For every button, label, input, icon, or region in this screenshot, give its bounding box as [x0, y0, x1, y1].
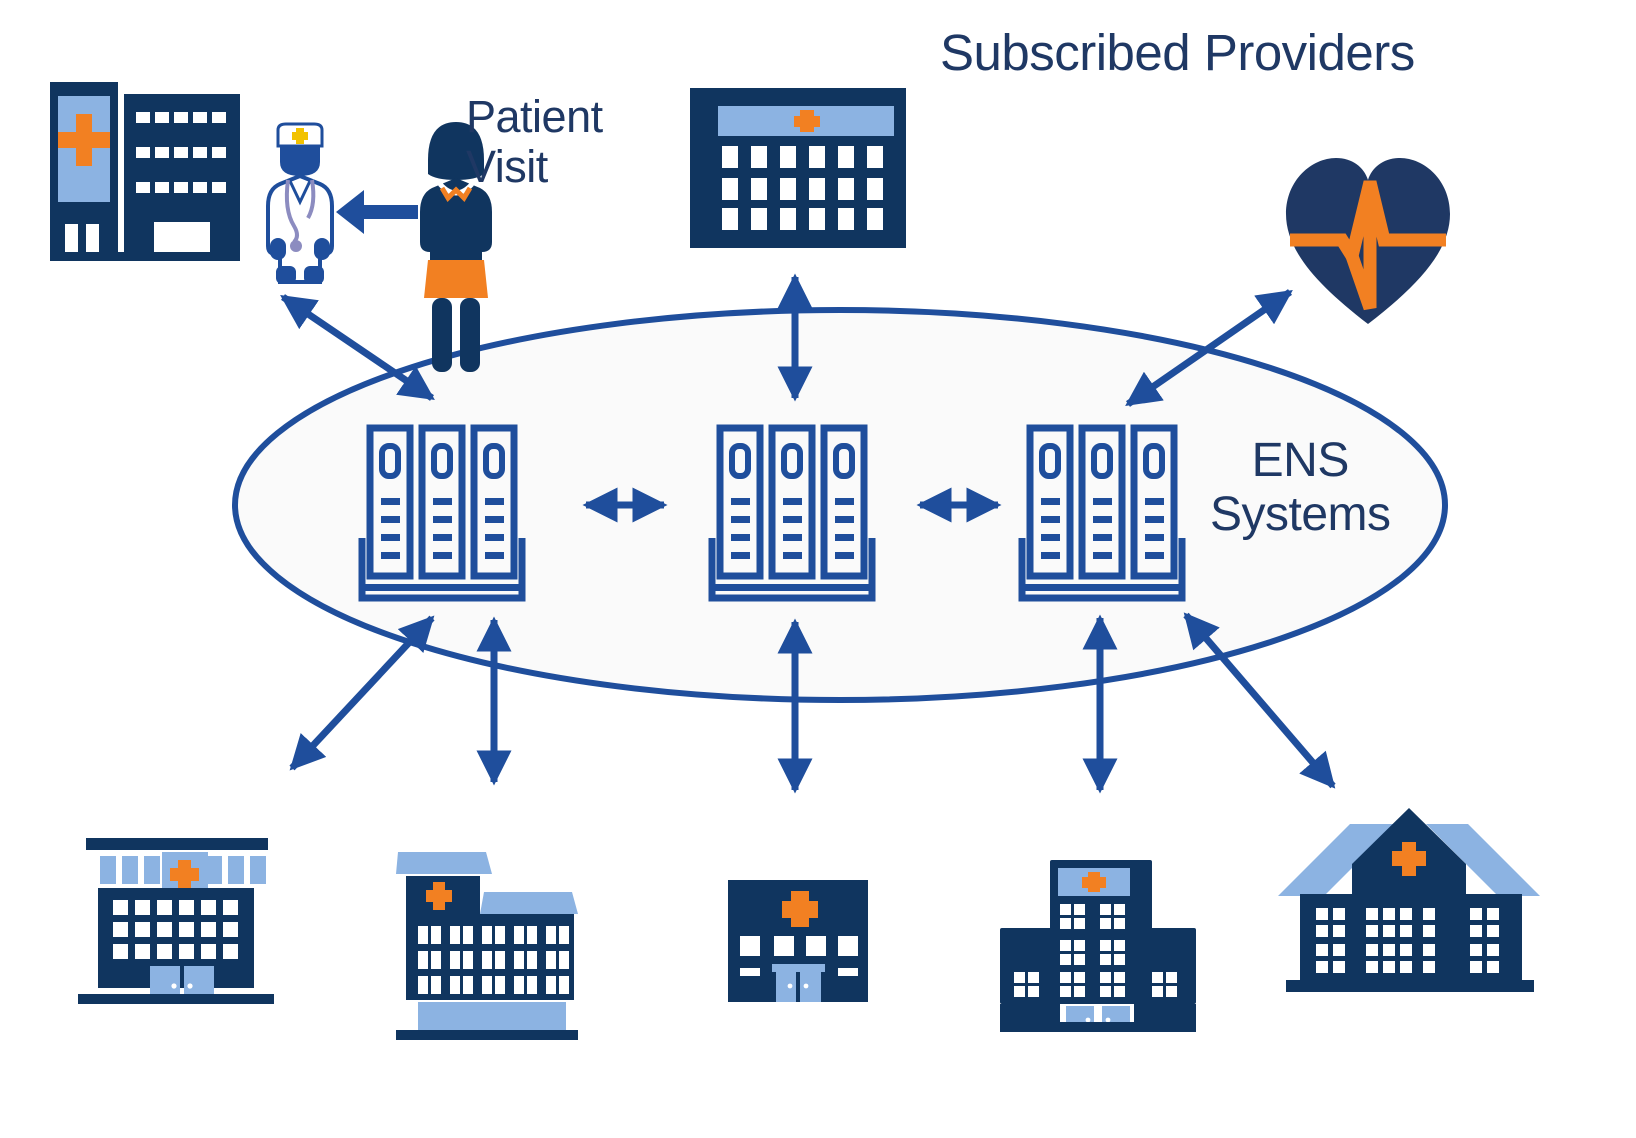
- provider-medical-center: [396, 852, 578, 1040]
- provider-hospital-tower: [1000, 860, 1196, 1032]
- subscribed-providers-label: Subscribed Providers: [940, 24, 1415, 81]
- diagram-canvas: Subscribed Providers PatientVisit ENSSys…: [0, 0, 1636, 1138]
- provider-emergency-clinic: [728, 880, 868, 1002]
- ens-label-line2: Systems: [1210, 488, 1391, 541]
- heartbeat-health-icon: [1286, 158, 1450, 324]
- subscribed-hospital-top-center: [690, 88, 906, 248]
- arrow-patient-to-doctor: [336, 190, 418, 234]
- patient-visit-line2: Visit: [466, 141, 548, 192]
- arrow-ens-to-clinic-storefront: [292, 618, 432, 768]
- patient-visit-label: PatientVisit: [466, 92, 603, 193]
- arrow-ens-to-hospital-topleft: [283, 297, 432, 398]
- diagram-vector-layer: [0, 0, 1636, 1138]
- provider-hospital-campus: [1278, 808, 1540, 992]
- patient-visit-line1: Patient: [466, 91, 603, 142]
- ens-label-line1: ENS: [1252, 434, 1349, 487]
- provider-clinic-storefront: [78, 838, 274, 1004]
- doctor-figure: [268, 124, 332, 284]
- ens-systems-label: ENSSystems: [1210, 434, 1391, 542]
- hospital-with-clinic-tower: [50, 82, 240, 261]
